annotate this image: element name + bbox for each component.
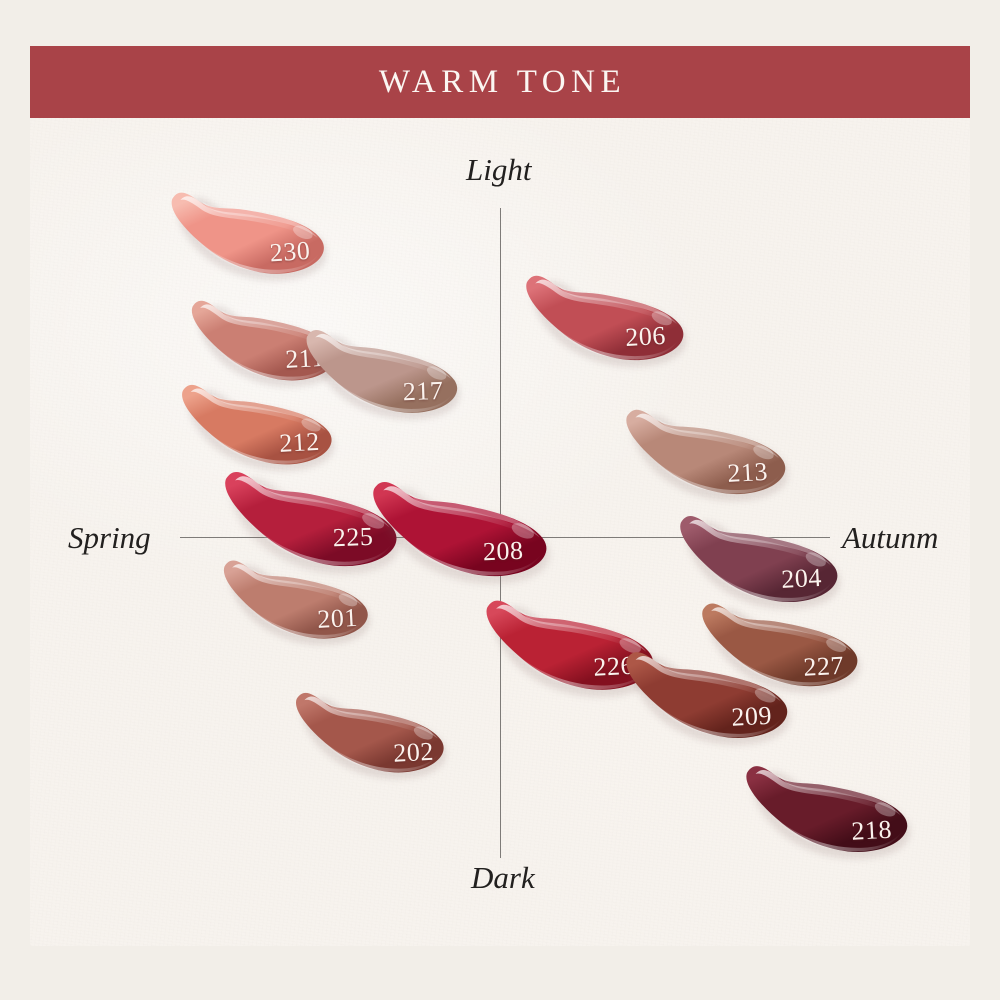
axis-label-autumn: Autunm [842,520,938,556]
swatch-202[interactable]: 202 [289,674,450,782]
swatch-208[interactable]: 208 [366,463,554,585]
chart-canvas: Light Dark Spring Autunm 230211217212225… [30,118,970,946]
swatch-218[interactable]: 218 [739,746,914,863]
swatch-206[interactable]: 206 [519,256,690,371]
axis-label-spring: Spring [68,520,151,556]
shade-chart-page: WARM TONE Light Dark Spring Autunm 23021… [0,0,1000,1000]
swatch-213[interactable]: 213 [619,390,792,505]
swatch-209[interactable]: 209 [619,632,794,749]
swatch-201[interactable]: 201 [218,542,375,648]
axis-label-dark: Dark [471,860,535,896]
axis-label-light: Light [466,152,531,188]
swatch-230[interactable]: 230 [165,171,332,286]
page-title: WARM TONE [374,64,626,101]
header-banner: WARM TONE [30,46,970,118]
